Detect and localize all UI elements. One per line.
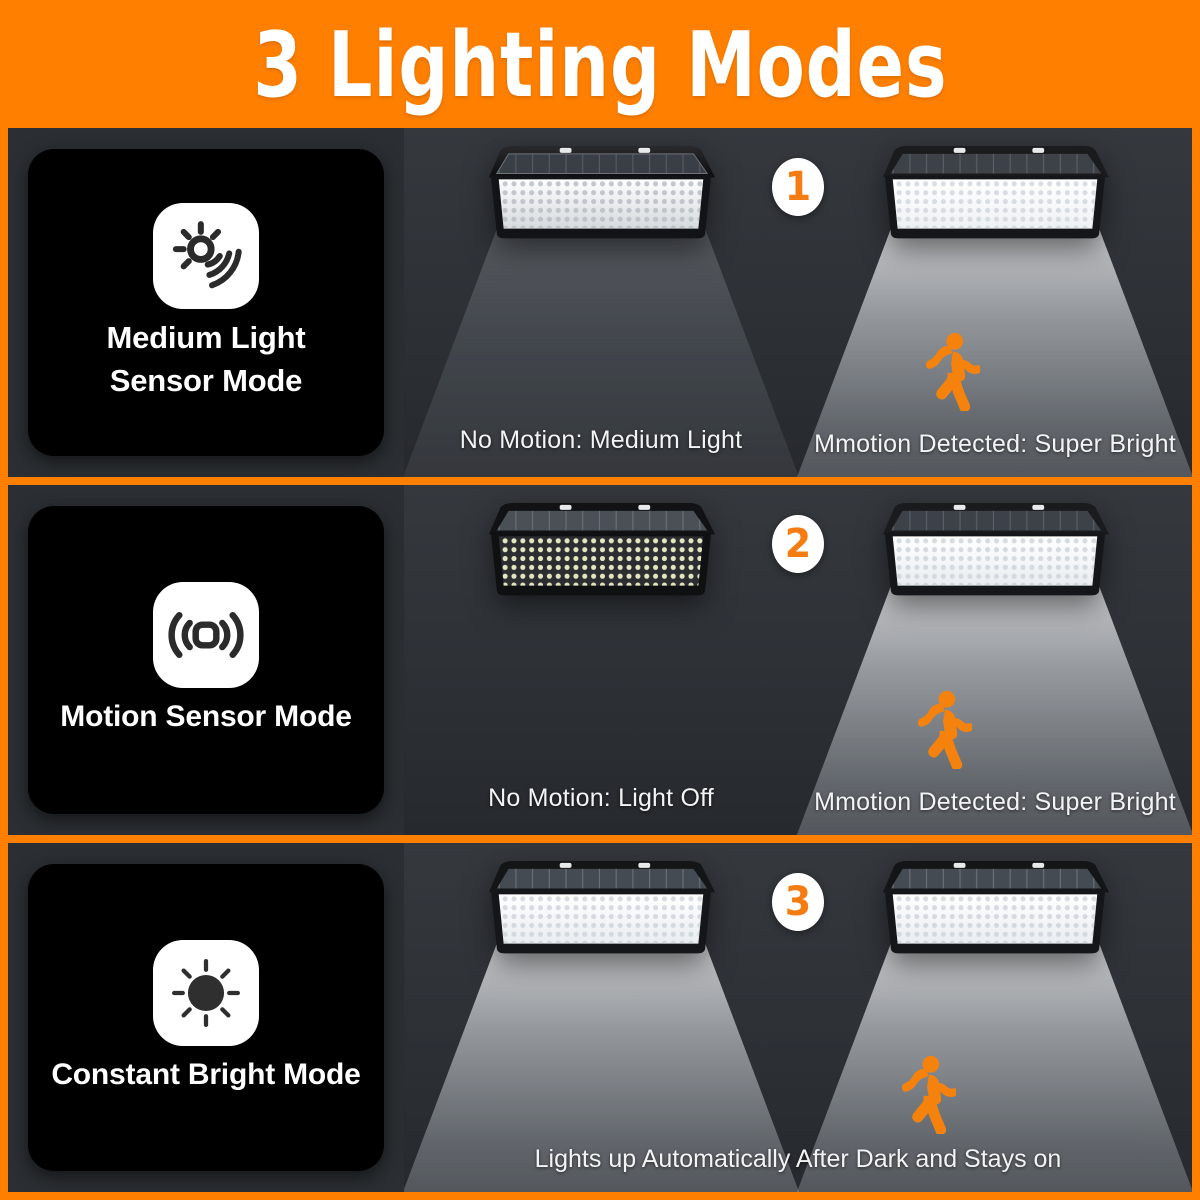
solar-lamp-product xyxy=(877,859,1113,961)
solar-lamp-product xyxy=(877,501,1113,603)
step-badge-2: 2 xyxy=(772,515,824,573)
sun-icon xyxy=(153,940,259,1046)
step-number: 3 xyxy=(785,882,811,922)
solar-lamp-product xyxy=(483,144,719,246)
mode-row-medium-light-sensor: Medium Light Sensor Mode xyxy=(8,128,1192,477)
scene-half-left xyxy=(404,843,798,1192)
scene-caption-left: No Motion: Light Off xyxy=(404,784,798,813)
running-person-icon xyxy=(916,689,972,769)
scene-caption-left: No Motion: Medium Light xyxy=(404,426,798,455)
solar-lamp-product xyxy=(483,859,719,961)
mode-card-label: Motion Sensor Mode xyxy=(50,696,361,737)
mode-scene: Lights up Automatically After Dark and S… xyxy=(404,843,1192,1192)
scene-half-right xyxy=(798,843,1192,1192)
mode-scene: No Motion: Medium Light xyxy=(404,128,1192,477)
mode-row-motion-sensor: Motion Sensor Mode xyxy=(8,485,1192,834)
mode-card-label-line1: Constant Bright Mode xyxy=(51,1058,360,1091)
scene-caption-right: Mmotion Detected: Super Bright xyxy=(798,430,1192,459)
mode-card[interactable]: Constant Bright Mode xyxy=(28,864,384,1171)
mode-card-label: Constant Bright Mode xyxy=(41,1054,370,1095)
mode-row-constant-bright: Constant Bright Mode xyxy=(8,843,1192,1192)
mode-card[interactable]: Motion Sensor Mode xyxy=(28,506,384,813)
solar-lamp-product xyxy=(483,501,719,603)
mode-rows: Medium Light Sensor Mode xyxy=(0,128,1200,1200)
running-person-icon xyxy=(924,331,980,411)
step-badge-3: 3 xyxy=(772,873,824,931)
page-title: 3 Lighting Modes xyxy=(253,11,947,116)
scene-half-motion: Mmotion Detected: Super Bright xyxy=(798,485,1192,834)
mode-card-column: Motion Sensor Mode xyxy=(8,485,404,834)
scene-caption-shared: Lights up Automatically After Dark and S… xyxy=(404,1145,1192,1174)
poster-header: 3 Lighting Modes xyxy=(0,0,1200,128)
scene-half-no-motion: No Motion: Medium Light xyxy=(404,128,798,477)
scene-half-motion: Mmotion Detected: Super Bright xyxy=(798,128,1192,477)
running-person-icon xyxy=(900,1054,956,1134)
step-number: 2 xyxy=(785,524,811,564)
solar-lamp-product xyxy=(877,144,1113,246)
scene-half-no-motion: No Motion: Light Off xyxy=(404,485,798,834)
mode-card-label-line2: Sensor Mode xyxy=(110,363,302,398)
mode-scene: No Motion: Light Off xyxy=(404,485,1192,834)
mode-card-label: Medium Light Sensor Mode xyxy=(96,317,315,403)
mode-card-label-line1: Medium Light xyxy=(106,320,305,355)
lighting-modes-poster: 3 Lighting Modes xyxy=(0,0,1200,1200)
motion-sensor-icon xyxy=(153,582,259,688)
mode-card-label-line1: Motion Sensor Mode xyxy=(60,700,351,733)
light-sensor-icon xyxy=(153,203,259,309)
scene-caption-right: Mmotion Detected: Super Bright xyxy=(798,788,1192,817)
step-number: 1 xyxy=(785,167,811,207)
mode-card-column: Medium Light Sensor Mode xyxy=(8,128,404,477)
step-badge-1: 1 xyxy=(772,158,824,216)
mode-card-column: Constant Bright Mode xyxy=(8,843,404,1192)
mode-card[interactable]: Medium Light Sensor Mode xyxy=(28,149,384,456)
